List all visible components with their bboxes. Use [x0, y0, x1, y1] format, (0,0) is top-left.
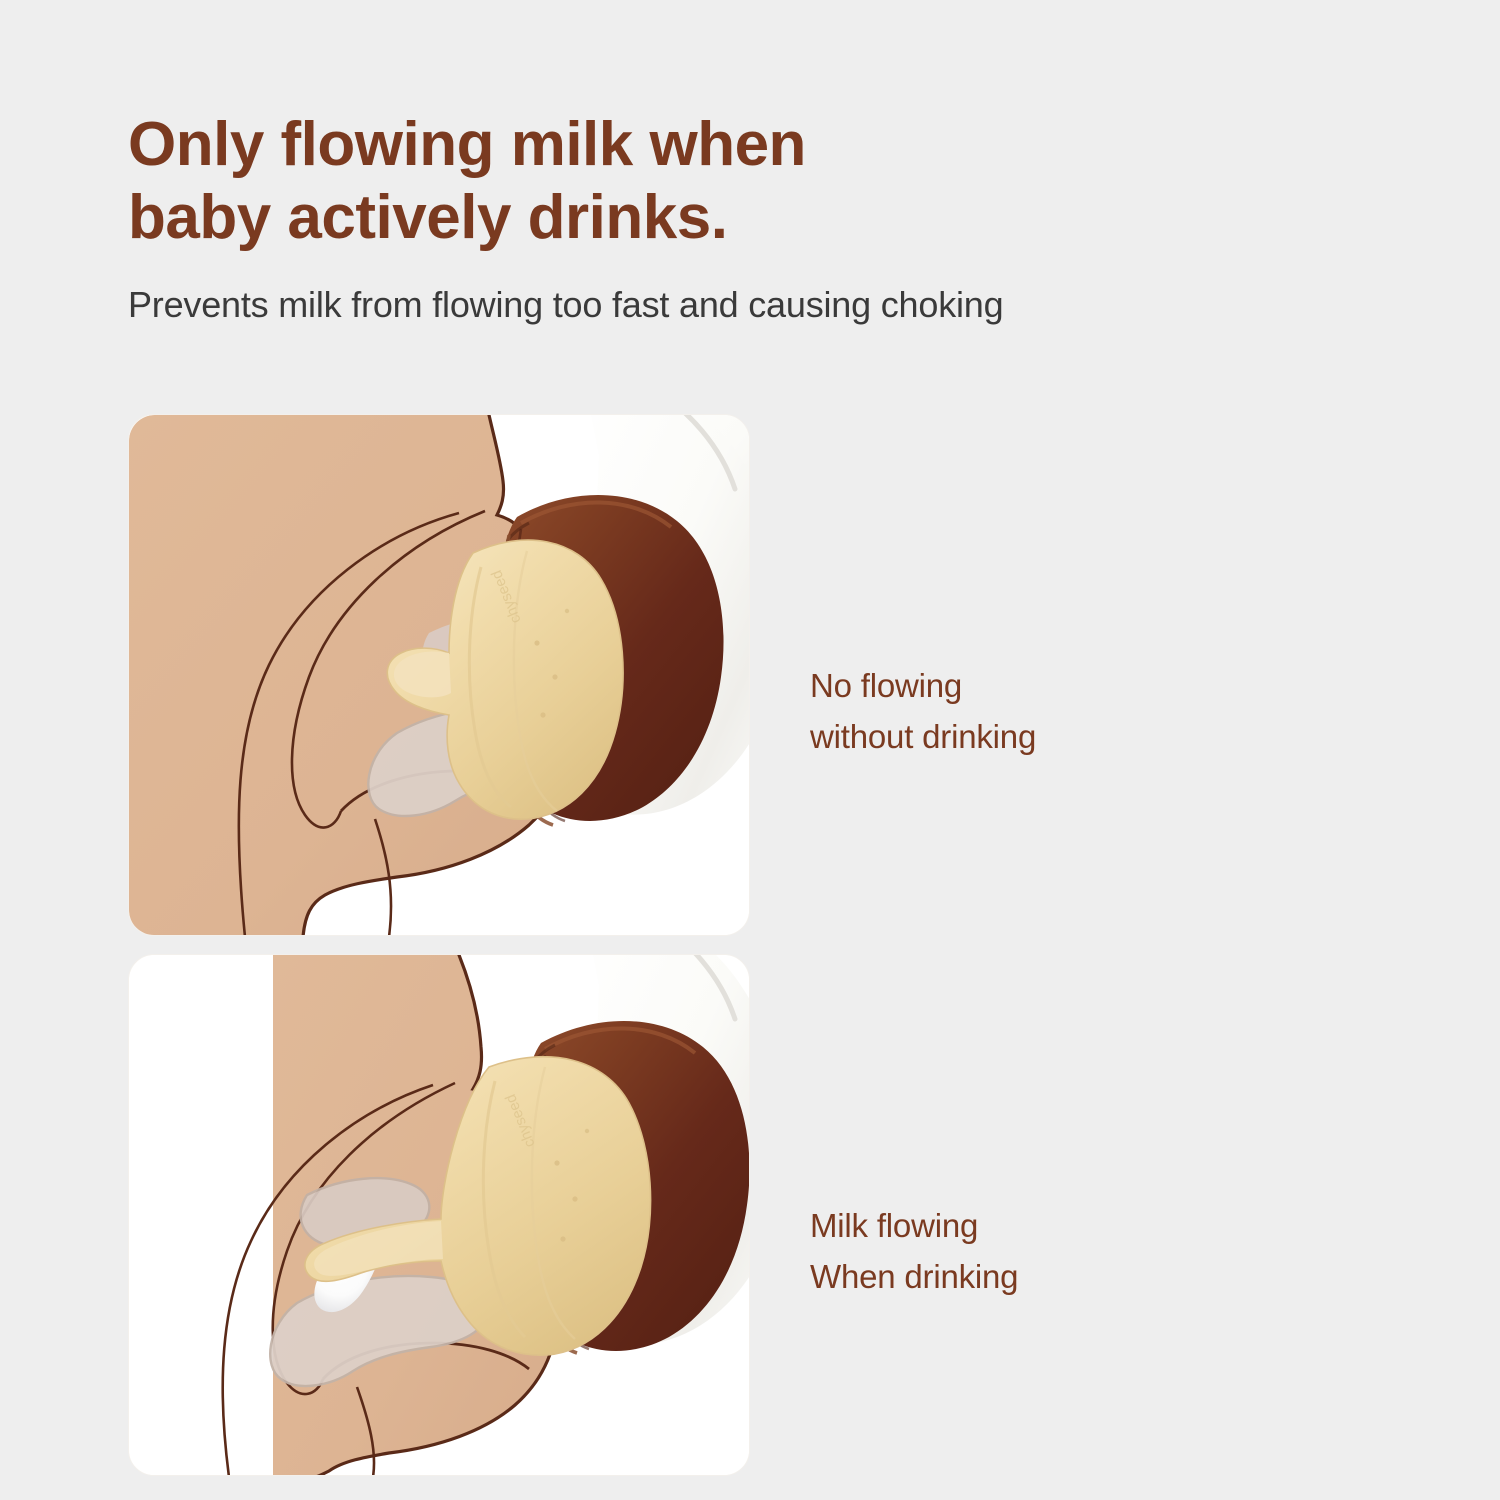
illustration-card-milk-flowing: chyseed chys [128, 954, 750, 1476]
header-block: Only flowing milk when baby actively dri… [128, 108, 1428, 329]
page-subtitle: Prevents milk from flowing too fast and … [128, 282, 1428, 329]
illustration-card-no-flow: chyseed [128, 414, 750, 936]
vent-dot [585, 1129, 589, 1133]
vent-dot [560, 1236, 565, 1241]
vent-dot [572, 1196, 577, 1201]
page-title: Only flowing milk when baby actively dri… [128, 108, 1428, 254]
vent-dot [540, 712, 545, 717]
vent-dot [565, 609, 569, 613]
vent-dot [554, 1160, 559, 1165]
product-feature-page: Only flowing milk when baby actively dri… [0, 0, 1500, 1500]
anatomy-illustration-drinking: chyseed chys [129, 955, 750, 1476]
vent-dot [552, 674, 557, 679]
anatomy-illustration-resting: chyseed [129, 415, 750, 936]
caption-no-flow: No flowing without drinking [810, 660, 1036, 762]
vent-dot [534, 640, 539, 645]
caption-milk-flowing: Milk flowing When drinking [810, 1200, 1018, 1302]
scene-milk-flowing: chyseed chys [129, 955, 749, 1475]
scene-no-flow: chyseed [129, 415, 749, 935]
